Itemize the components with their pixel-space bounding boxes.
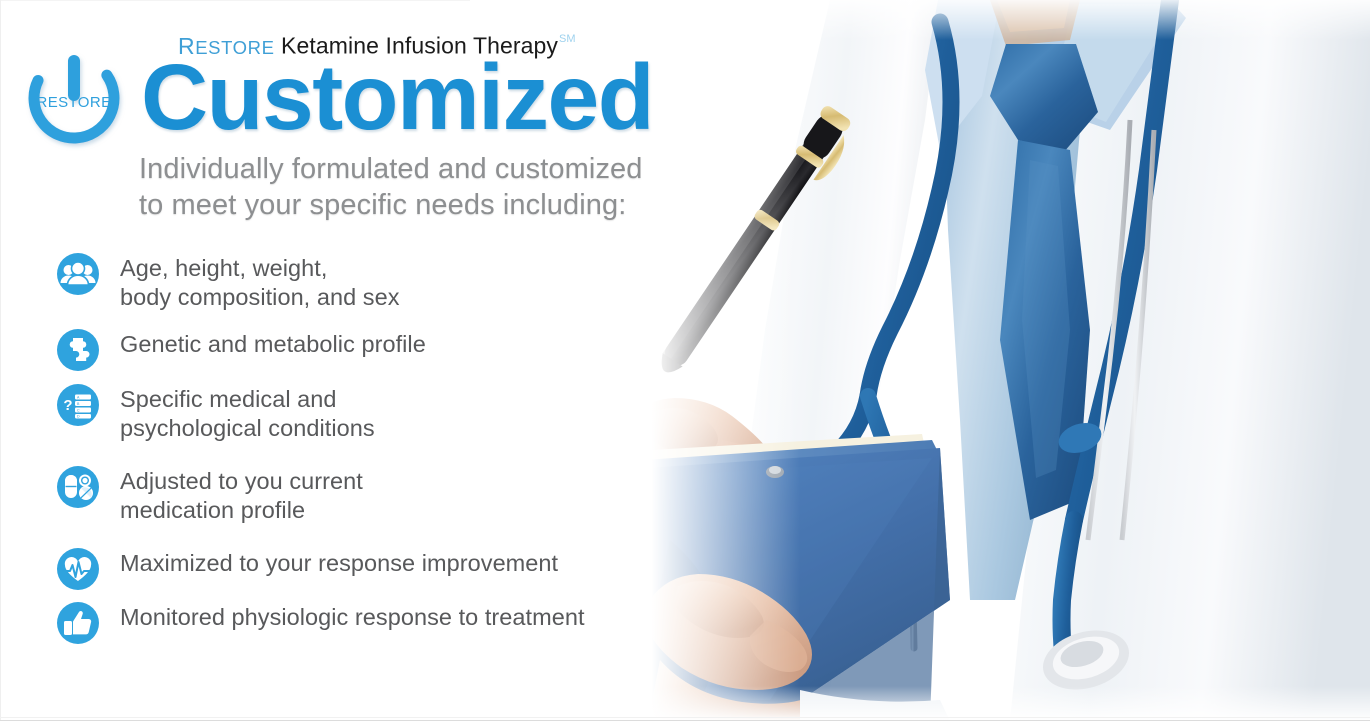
logo-wordmark: RESTORE [36, 94, 111, 111]
svg-text:?: ? [63, 397, 72, 414]
pills-medication-icon [56, 465, 100, 509]
thumbs-up-icon [56, 601, 100, 645]
list-item-line-1: Age, height, weight, [120, 254, 400, 283]
list-item: ? AB CD Specific medi [56, 383, 375, 443]
list-item-line-2: psychological conditions [120, 414, 375, 443]
list-item-line-2: body composition, and sex [120, 283, 400, 312]
list-item: Genetic and metabolic profile [56, 328, 426, 372]
puzzle-piece-icon [56, 328, 100, 372]
list-item-line-2: medication profile [120, 496, 363, 525]
list-item-text: Genetic and metabolic profile [120, 328, 426, 359]
list-item-text: Specific medical and psychological condi… [120, 383, 375, 443]
list-item-line-1: Maximized to your response improvement [120, 549, 558, 578]
list-item: Maximized to your response improvement [56, 547, 558, 591]
list-item-text: Maximized to your response improvement [120, 547, 558, 578]
svg-text:C: C [77, 408, 80, 412]
list-item-line-1: Genetic and metabolic profile [120, 330, 426, 359]
frame-bottom-line-soft [0, 717, 1370, 718]
subheading-line-2: to meet your specific needs including: [139, 187, 643, 223]
heart-pulse-icon [56, 547, 100, 591]
promo-banner: RESTORE RESTORE Ketamine Infusion Therap… [0, 0, 1370, 721]
list-item-line-1: Monitored physiologic response to treatm… [120, 603, 585, 632]
subheading-line-1: Individually formulated and customized [139, 151, 643, 187]
svg-text:D: D [77, 415, 80, 419]
list-item-text: Monitored physiologic response to treatm… [120, 601, 585, 632]
restore-power-logo: RESTORE [18, 42, 130, 154]
page-title: Customized [141, 47, 653, 147]
list-item-line-1: Adjusted to you current [120, 467, 363, 496]
list-item-text: Adjusted to you current medication profi… [120, 465, 363, 525]
list-item-line-1: Specific medical and [120, 385, 375, 414]
questionnaire-icon: ? AB CD [56, 383, 100, 427]
list-item: Age, height, weight, body composition, a… [56, 252, 400, 312]
list-item: Monitored physiologic response to treatm… [56, 601, 585, 645]
list-item: Adjusted to you current medication profi… [56, 465, 363, 525]
subheading: Individually formulated and customized t… [139, 151, 643, 223]
banner-content: RESTORE RESTORE Ketamine Infusion Therap… [0, 0, 700, 721]
people-group-icon [56, 252, 100, 296]
list-item-text: Age, height, weight, body composition, a… [120, 252, 400, 312]
service-mark: SM [559, 33, 576, 45]
